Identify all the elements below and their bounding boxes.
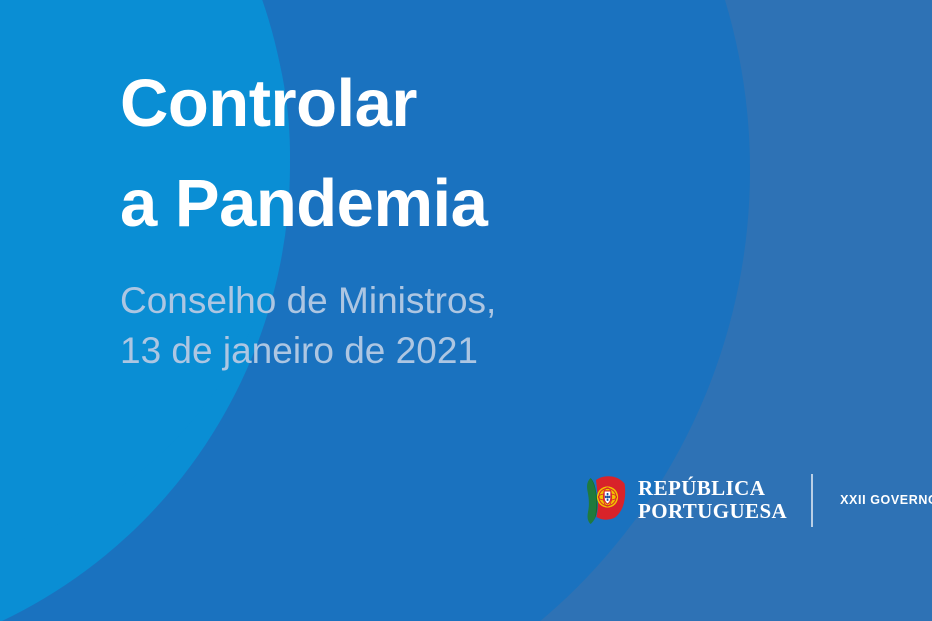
republica-portuguesa-wordmark: REPÚBLICA PORTUGUESA: [638, 477, 787, 522]
wordmark-line-portuguesa: PORTUGUESA: [638, 500, 787, 523]
government-label: XXII GOVERNO: [840, 493, 932, 507]
wordmark-line-republica: REPÚBLICA: [638, 477, 787, 500]
presentation-slide: Controlar a Pandemia Conselho de Ministr…: [0, 0, 932, 621]
portuguese-flag-emblem-icon: [583, 472, 629, 528]
slide-title: Controlar a Pandemia: [120, 54, 680, 254]
slide-text-block: Controlar a Pandemia Conselho de Ministr…: [120, 54, 680, 376]
government-logo-lockup: REPÚBLICA PORTUGUESA XXII GOVERNO: [583, 470, 932, 530]
slide-subtitle: Conselho de Ministros, 13 de janeiro de …: [120, 254, 680, 376]
logo-divider: [811, 474, 813, 527]
